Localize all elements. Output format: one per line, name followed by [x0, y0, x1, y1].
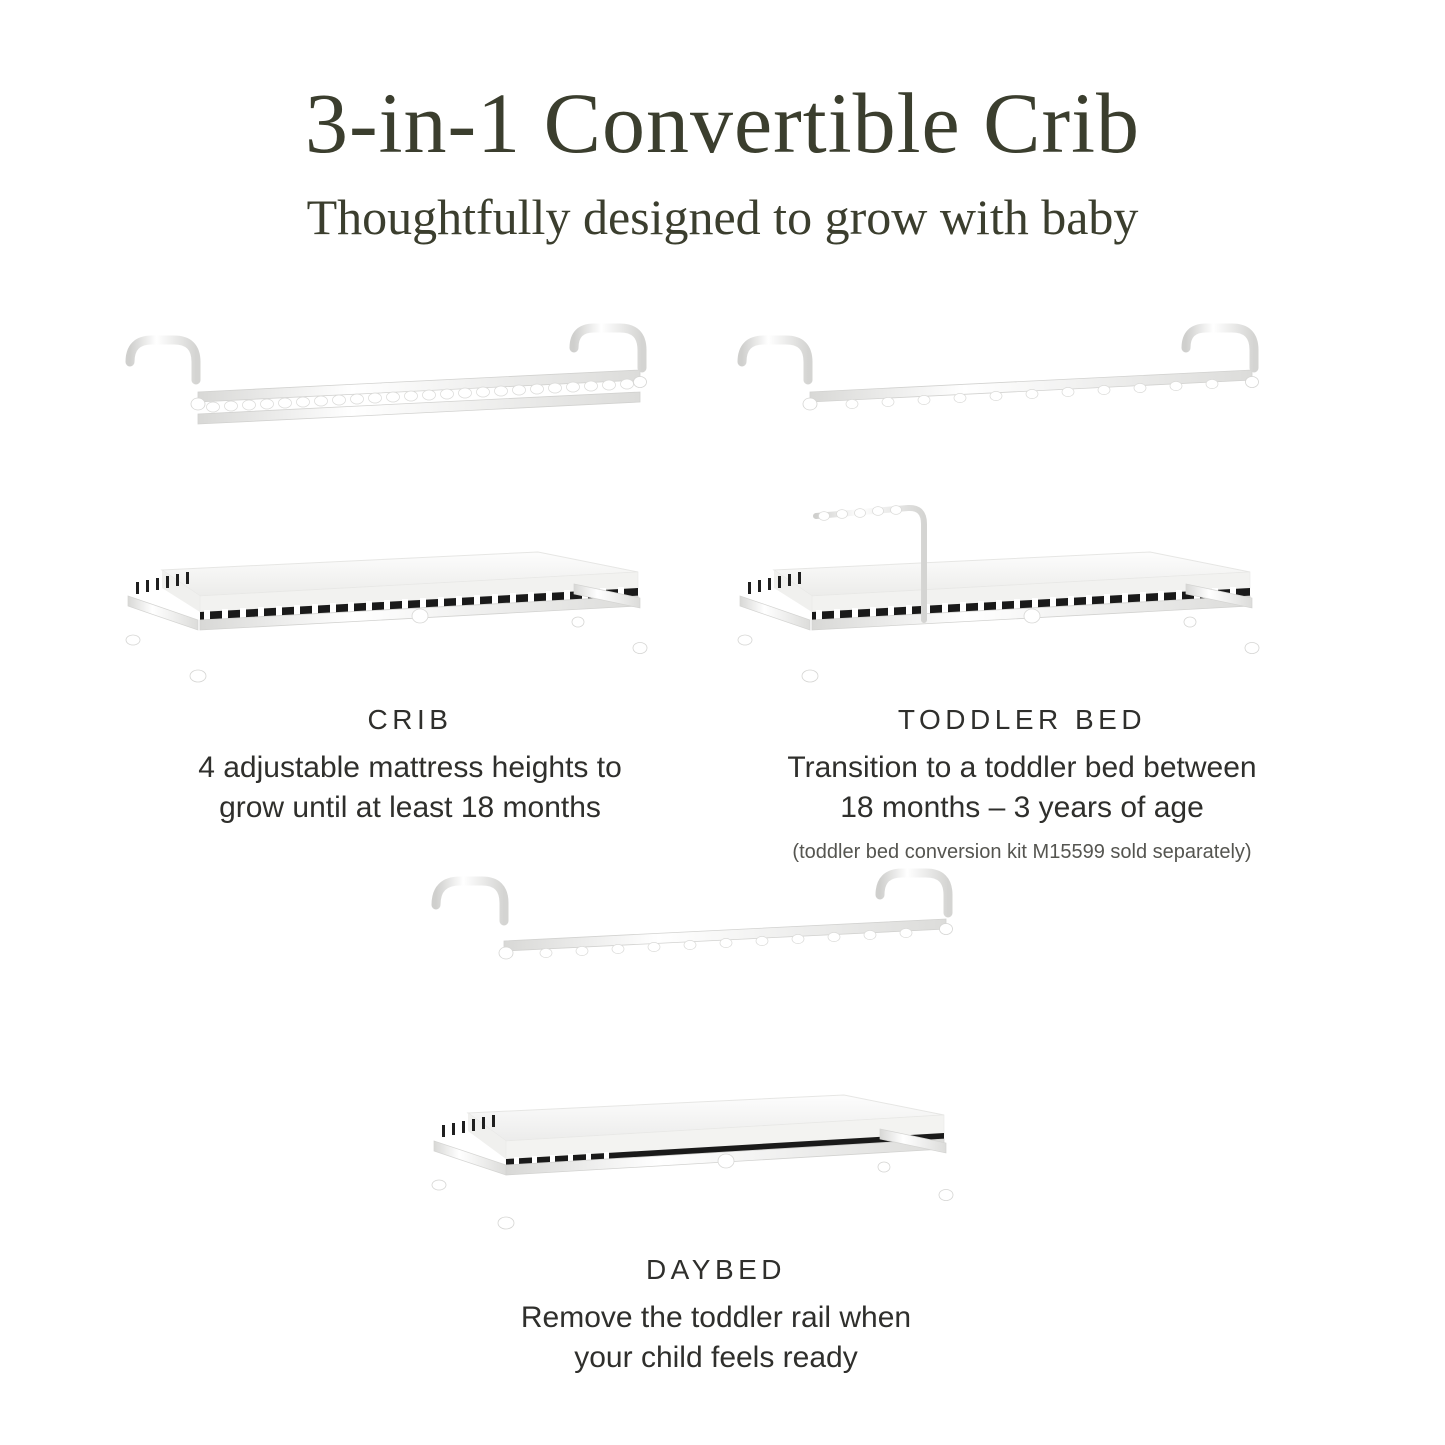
config-description-toddler-bed: Transition to a toddler bed between 18 m…: [712, 748, 1332, 827]
caption-crib: CRIB 4 adjustable mattress heights to gr…: [100, 704, 720, 827]
panel-daybed: DAYBED Remove the toddler rail when your…: [406, 855, 1026, 1377]
daybed-configuration-illustration: [406, 855, 1026, 1240]
caption-daybed: DAYBED Remove the toddler rail when your…: [406, 1254, 1026, 1377]
page-title: 3-in-1 Convertible Crib: [0, 78, 1445, 168]
panel-crib: CRIB 4 adjustable mattress heights to gr…: [100, 320, 720, 827]
config-description-daybed-line1: Remove the toddler rail when: [406, 1298, 1026, 1338]
crib-configuration-illustration: [100, 320, 720, 690]
config-description-toddler-bed-line1: Transition to a toddler bed between: [712, 748, 1332, 788]
config-label-toddler-bed: TODDLER BED: [712, 704, 1332, 736]
config-description-toddler-bed-line2: 18 months – 3 years of age: [712, 788, 1332, 828]
config-description-crib: 4 adjustable mattress heights to grow un…: [100, 748, 720, 827]
config-label-daybed: DAYBED: [406, 1254, 1026, 1286]
toddler-bed-configuration-illustration: [712, 320, 1332, 690]
config-description-crib-line1: 4 adjustable mattress heights to: [100, 748, 720, 788]
daybed-image-svg: [406, 855, 1026, 1240]
panel-toddler-bed: TODDLER BED Transition to a toddler bed …: [712, 320, 1332, 865]
crib-image-svg: [100, 320, 720, 690]
caption-toddler-bed: TODDLER BED Transition to a toddler bed …: [712, 704, 1332, 865]
infographic-page: 3-in-1 Convertible Crib Thoughtfully des…: [0, 0, 1445, 1445]
page-subtitle: Thoughtfully designed to grow with baby: [0, 190, 1445, 245]
config-description-daybed: Remove the toddler rail when your child …: [406, 1298, 1026, 1377]
header: 3-in-1 Convertible Crib Thoughtfully des…: [0, 0, 1445, 245]
toddler-bed-image-svg: [712, 320, 1332, 690]
config-description-daybed-line2: your child feels ready: [406, 1338, 1026, 1378]
config-label-crib: CRIB: [100, 704, 720, 736]
config-description-crib-line2: grow until at least 18 months: [100, 788, 720, 828]
